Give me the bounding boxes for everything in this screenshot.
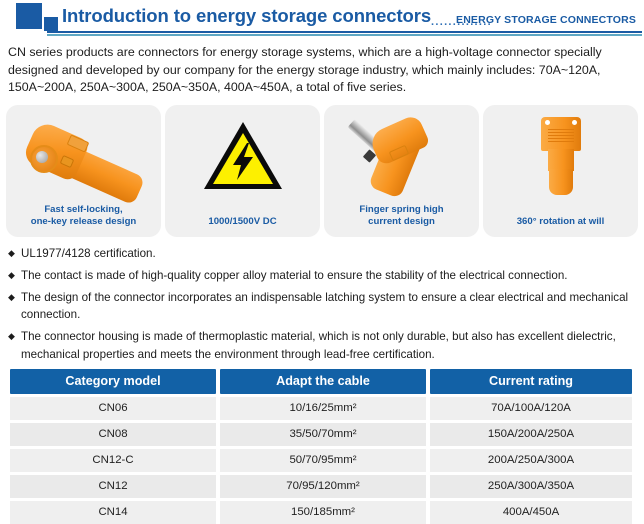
cell-adapt-the-cable: 70/95/120mm² xyxy=(220,475,426,498)
caption-line-1: 360° rotation at will xyxy=(487,216,634,229)
logo-square-small-icon xyxy=(44,17,58,31)
diamond-bullet-icon: ◆ xyxy=(8,328,15,346)
logo-square-large-icon xyxy=(16,3,42,29)
feature-card-rotation: 360° rotation at will xyxy=(483,105,638,237)
list-item-text: UL1977/4128 certification. xyxy=(21,247,156,260)
cell-adapt-the-cable: 150/185mm² xyxy=(220,501,426,524)
header-rule-light xyxy=(47,34,642,36)
high-voltage-warning-triangle-icon xyxy=(201,119,285,193)
cell-category-model: CN12 xyxy=(10,475,216,498)
feature-card-caption: 360° rotation at will xyxy=(487,216,634,229)
caption-line-1: Finger spring high xyxy=(328,204,475,217)
cell-adapt-the-cable: 10/16/25mm² xyxy=(220,397,426,420)
list-item: ◆ The design of the connector incorporat… xyxy=(8,289,636,324)
caption-line-2: one-key release design xyxy=(10,216,157,229)
list-item-text: The contact is made of high-quality copp… xyxy=(21,269,568,282)
header-rule-dark xyxy=(47,31,642,33)
column-header-adapt-the-cable: Adapt the cable xyxy=(220,369,426,394)
diamond-bullet-icon: ◆ xyxy=(8,267,15,285)
list-item: ◆ The contact is made of high-quality co… xyxy=(8,267,636,285)
intro-paragraph: CN series products are connectors for en… xyxy=(8,44,636,97)
cell-adapt-the-cable: 50/70/95mm² xyxy=(220,449,426,472)
cell-category-model: CN06 xyxy=(10,397,216,420)
cell-current-rating: 150A/200A/250A xyxy=(430,423,632,446)
list-item-text: The design of the connector incorporates… xyxy=(21,291,628,322)
cell-category-model: CN14 xyxy=(10,501,216,524)
feature-card-voltage-rating: 1000/1500V DC xyxy=(165,105,320,237)
feature-card-caption: Finger spring high current design xyxy=(328,204,475,229)
diamond-bullet-icon: ◆ xyxy=(8,245,15,263)
caption-line-2: current design xyxy=(328,216,475,229)
feature-bullet-list: ◆ UL1977/4128 certification. ◆ The conta… xyxy=(8,245,636,364)
diamond-bullet-icon: ◆ xyxy=(8,289,15,307)
feature-card-list: Fast self-locking, one-key release desig… xyxy=(6,105,638,237)
feature-card-self-locking: Fast self-locking, one-key release desig… xyxy=(6,105,161,237)
column-header-category-model: Category model xyxy=(10,369,216,394)
feature-card-caption: Fast self-locking, one-key release desig… xyxy=(10,204,157,229)
list-item: ◆ The connector housing is made of therm… xyxy=(8,328,636,363)
list-item: ◆ UL1977/4128 certification. xyxy=(8,245,636,263)
cell-current-rating: 400A/450A xyxy=(430,501,632,524)
feature-card-caption: 1000/1500V DC xyxy=(169,216,316,229)
caption-line-1: Fast self-locking, xyxy=(10,204,157,217)
specification-table: Category model Adapt the cable Current r… xyxy=(10,369,632,524)
orange-vertical-connector-image xyxy=(483,105,638,197)
table-row: CN12-C 50/70/95mm² 200A/250A/300A xyxy=(10,449,632,472)
orange-angled-connector-image xyxy=(6,105,161,197)
column-header-current-rating: Current rating xyxy=(430,369,632,394)
cell-current-rating: 200A/250A/300A xyxy=(430,449,632,472)
caption-line-1: 1000/1500V DC xyxy=(169,216,316,229)
header-kicker: ENERGY STORAGE CONNECTORS xyxy=(456,14,636,26)
table-row: CN08 35/50/70mm² 150A/200A/250A xyxy=(10,423,632,446)
feature-card-finger-spring: Finger spring high current design xyxy=(324,105,479,237)
cell-current-rating: 70A/100A/120A xyxy=(430,397,632,420)
table-header-row: Category model Adapt the cable Current r… xyxy=(10,369,632,394)
table-row: CN12 70/95/120mm² 250A/300A/350A xyxy=(10,475,632,498)
cell-current-rating: 250A/300A/350A xyxy=(430,475,632,498)
page-header: Introduction to energy storage connector… xyxy=(0,0,644,38)
orange-connector-with-metal-pin-image xyxy=(324,105,479,197)
cell-adapt-the-cable: 35/50/70mm² xyxy=(220,423,426,446)
page-title: Introduction to energy storage connector… xyxy=(62,5,431,27)
table-row: CN14 150/185mm² 400A/450A xyxy=(10,501,632,524)
cell-category-model: CN08 xyxy=(10,423,216,446)
table-row: CN06 10/16/25mm² 70A/100A/120A xyxy=(10,397,632,420)
cell-category-model: CN12-C xyxy=(10,449,216,472)
list-item-text: The connector housing is made of thermop… xyxy=(21,330,616,361)
